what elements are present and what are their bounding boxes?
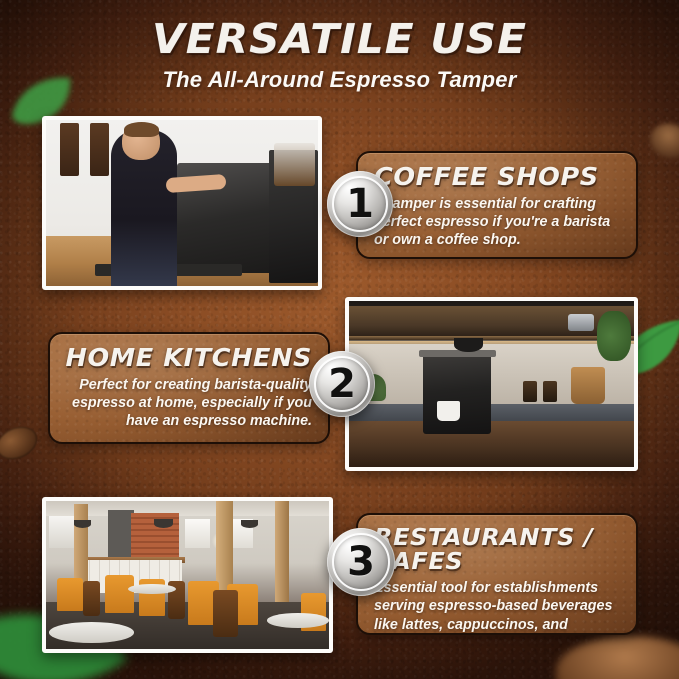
badge-number-1: 1 — [346, 184, 374, 224]
section-body-2: Perfect for creating barista-quality esp… — [66, 376, 312, 431]
section-badge-3: 3 — [327, 528, 395, 596]
section-body-1: A tamper is essential for crafting perfe… — [374, 195, 620, 250]
badge-number-2: 2 — [328, 364, 356, 404]
page-title-text: VERSATILE USE — [152, 15, 527, 63]
section-image-2 — [345, 297, 638, 471]
section-card-3[interactable]: RESTAURANTS / CAFES Essential tool for e… — [356, 513, 638, 635]
section-image-3-scene — [46, 501, 329, 649]
badge-number-3: 3 — [347, 542, 375, 582]
section-badge-1: 1 — [327, 171, 393, 237]
coffee-bean-left-icon — [0, 421, 42, 465]
section-image-3 — [42, 497, 333, 653]
header: VERSATILE USE The All-Around Espresso Ta… — [0, 18, 679, 93]
section-image-1 — [42, 116, 322, 290]
coffee-bean-right-icon — [646, 119, 679, 164]
section-image-1-scene — [46, 120, 318, 286]
section-image-2-scene — [349, 301, 634, 467]
page-title: VERSATILE USE — [0, 18, 679, 61]
section-title-1: COFFEE SHOPS — [374, 164, 625, 190]
versatile-use-infographic: VERSATILE USE The All-Around Espresso Ta… — [0, 0, 679, 679]
section-card-2[interactable]: HOME KITCHENS Perfect for creating baris… — [48, 332, 330, 444]
section-card-1[interactable]: COFFEE SHOPS A tamper is essential for c… — [356, 151, 638, 259]
page-subtitle: The All-Around Espresso Tamper — [0, 67, 679, 93]
section-title-2: HOME KITCHENS — [61, 345, 312, 371]
section-badge-2: 2 — [309, 351, 375, 417]
section-title-3: RESTAURANTS / CAFES — [374, 526, 625, 574]
coffee-bean-bottom-right-icon — [556, 636, 679, 679]
section-body-3: Essential tool for establishments servin… — [374, 579, 620, 635]
